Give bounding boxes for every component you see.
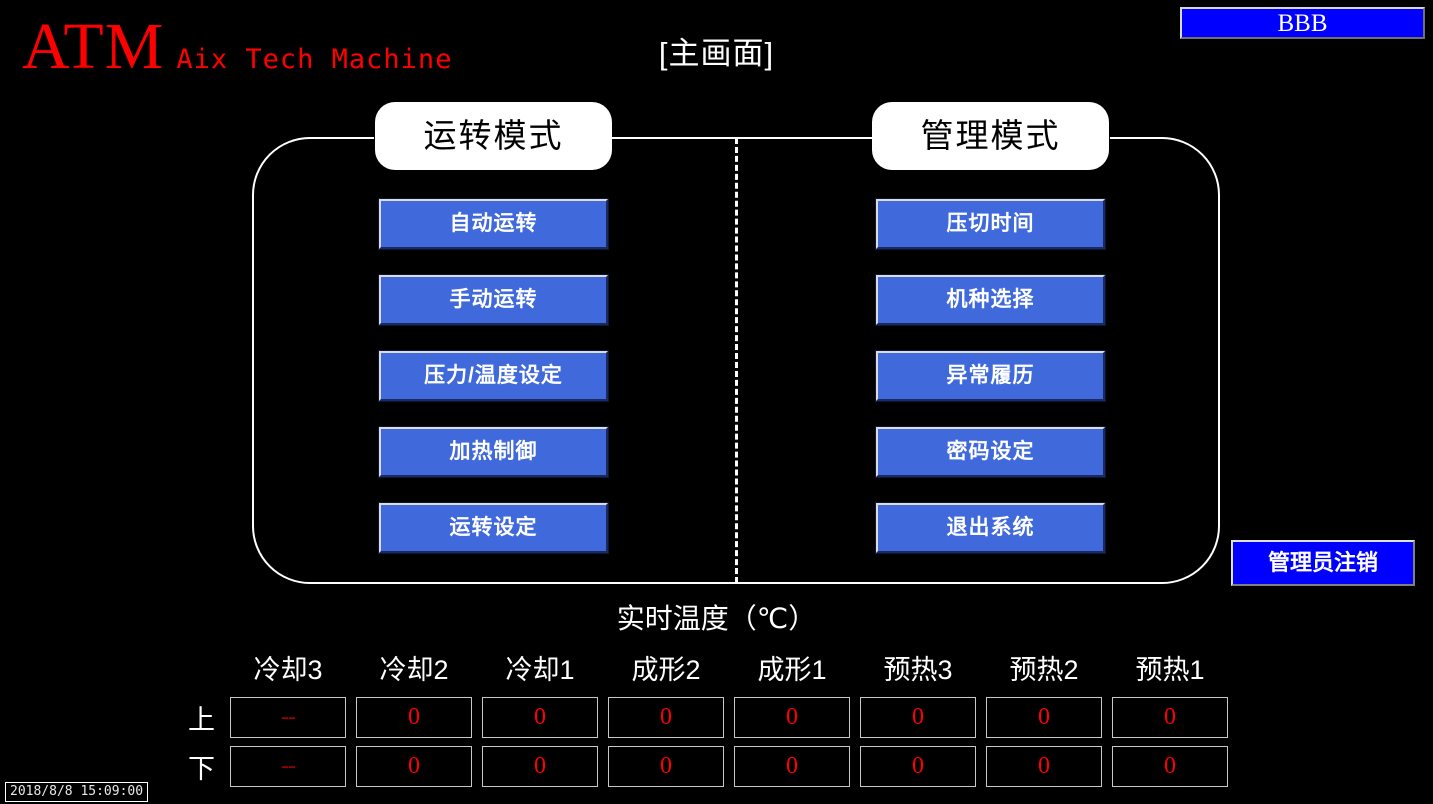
status-timestamp: 2018/8/8 15:09:00 [5, 782, 148, 802]
column-header-preheat3: 预热3 [860, 648, 976, 689]
column-header-cooling1: 冷却1 [482, 648, 598, 689]
realtime-temperature-table: 冷却3 冷却2 冷却1 成形2 成形1 预热3 预热2 预热1 上 -- 0 0… [176, 640, 1238, 795]
button-operation-setting[interactable]: 运转设定 [379, 503, 608, 553]
temp-cell-lower-preheat1: 0 [1112, 746, 1228, 787]
button-pressure-temperature-setting[interactable]: 压力/温度设定 [379, 351, 608, 401]
temp-cell-lower-preheat2: 0 [986, 746, 1102, 787]
temp-cell-upper-cooling3: -- [230, 697, 346, 738]
column-header-forming2: 成形2 [608, 648, 724, 689]
temp-cell-lower-cooling2: 0 [356, 746, 472, 787]
temp-cell-lower-forming1: 0 [734, 746, 850, 787]
management-mode-button-group: 压切时间 机种选择 异常履历 密码设定 退出系统 [876, 199, 1105, 553]
row-label-lower: 下 [186, 746, 220, 787]
panel-divider [735, 138, 738, 583]
bbb-button[interactable]: BBB [1180, 7, 1425, 39]
temp-cell-upper-preheat1: 0 [1112, 697, 1228, 738]
table-row: 下 -- 0 0 0 0 0 0 0 [186, 746, 1228, 787]
button-press-cut-time[interactable]: 压切时间 [876, 199, 1105, 249]
temp-cell-upper-forming1: 0 [734, 697, 850, 738]
temp-cell-lower-cooling3: -- [230, 746, 346, 787]
column-header-forming1: 成形1 [734, 648, 850, 689]
column-header-preheat2: 预热2 [986, 648, 1102, 689]
column-header-cooling2: 冷却2 [356, 648, 472, 689]
button-manual-operation[interactable]: 手动运转 [379, 275, 608, 325]
button-auto-operation[interactable]: 自动运转 [379, 199, 608, 249]
panel-header-operation-mode: 运转模式 [375, 102, 612, 170]
temp-cell-lower-preheat3: 0 [860, 746, 976, 787]
temp-cell-upper-preheat3: 0 [860, 697, 976, 738]
hmi-main-screen: ATM Aix Tech Machine [主画面] BBB 运转模式 管理模式… [0, 0, 1433, 804]
button-heating-control[interactable]: 加热制御 [379, 427, 608, 477]
realtime-temperature-title: 实时温度（℃） [0, 597, 1433, 637]
table-header-row: 冷却3 冷却2 冷却1 成形2 成形1 预热3 预热2 预热1 [186, 648, 1228, 689]
temp-cell-lower-cooling1: 0 [482, 746, 598, 787]
column-header-cooling3: 冷却3 [230, 648, 346, 689]
operation-mode-button-group: 自动运转 手动运转 压力/温度设定 加热制御 运转设定 [379, 199, 608, 553]
button-password-setting[interactable]: 密码设定 [876, 427, 1105, 477]
button-model-selection[interactable]: 机种选择 [876, 275, 1105, 325]
panel-header-management-mode: 管理模式 [872, 102, 1109, 170]
table-row: 上 -- 0 0 0 0 0 0 0 [186, 697, 1228, 738]
column-header-preheat1: 预热1 [1112, 648, 1228, 689]
admin-logout-button[interactable]: 管理员注销 [1231, 540, 1415, 586]
temp-cell-upper-forming2: 0 [608, 697, 724, 738]
button-exit-system[interactable]: 退出系统 [876, 503, 1105, 553]
temp-cell-lower-forming2: 0 [608, 746, 724, 787]
temp-cell-upper-cooling1: 0 [482, 697, 598, 738]
table-corner-cell [186, 648, 220, 689]
temp-cell-upper-preheat2: 0 [986, 697, 1102, 738]
row-label-upper: 上 [186, 697, 220, 738]
temp-cell-upper-cooling2: 0 [356, 697, 472, 738]
button-error-history[interactable]: 异常履历 [876, 351, 1105, 401]
